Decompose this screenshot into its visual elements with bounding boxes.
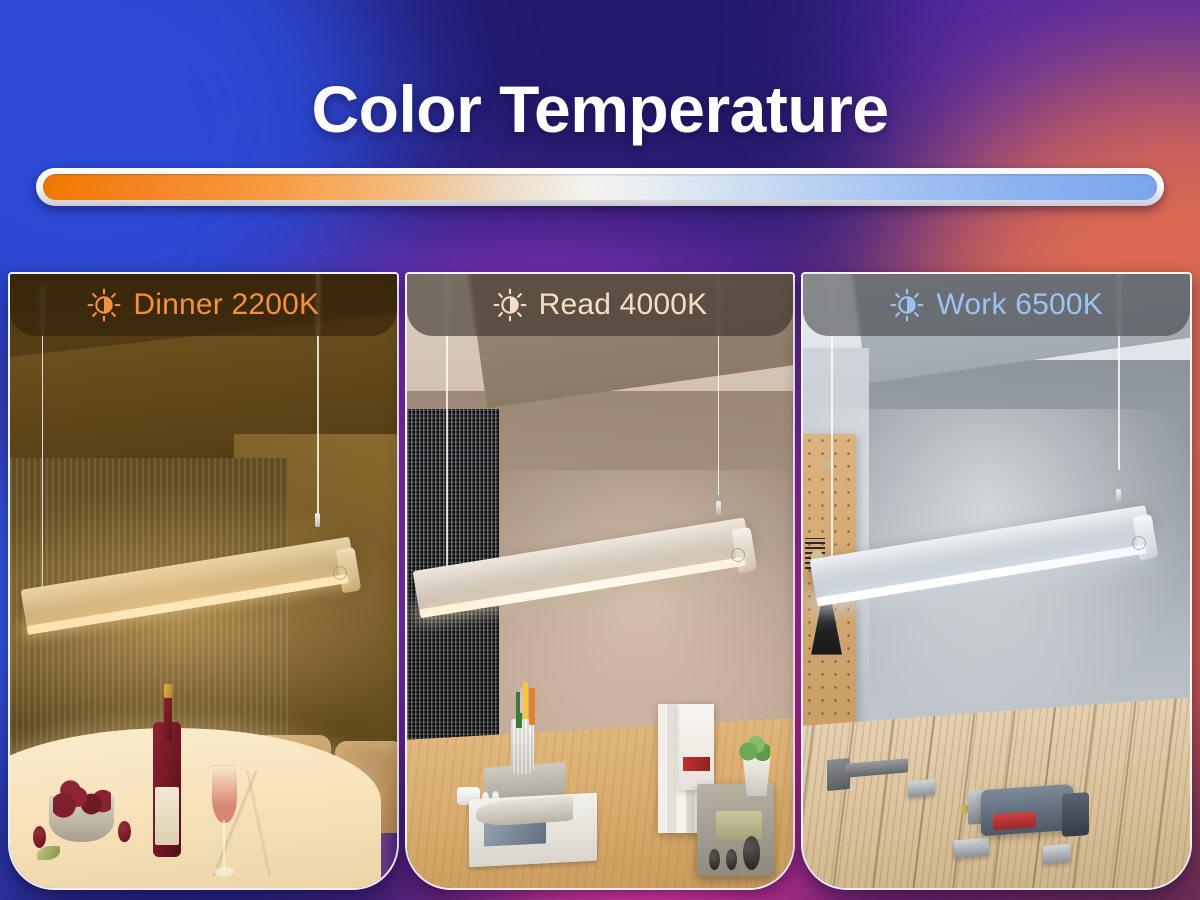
- brightness-sun-icon: [493, 288, 527, 322]
- wine-bottle-cap: [164, 684, 173, 698]
- pen-holder: [511, 719, 534, 774]
- panel-read[interactable]: Read 4000K: [405, 272, 796, 890]
- scene-study-desk: [407, 274, 794, 888]
- drill-grip: [993, 812, 1036, 831]
- book-cover-band: [683, 757, 710, 772]
- metal-hinge-3: [1043, 844, 1070, 865]
- color-temperature-gradient: [43, 174, 1157, 200]
- radio-knob-1: [709, 849, 720, 870]
- wine-glass-base: [214, 867, 234, 876]
- wine-bottle-neck: [164, 692, 171, 741]
- scene-dining-room: [10, 274, 397, 888]
- panel-label-text-read: Read 4000K: [539, 290, 708, 320]
- warm-light-glow: [10, 483, 397, 765]
- cherry-loose-right: [118, 821, 130, 842]
- wine-glass-bowl: [211, 765, 238, 823]
- brightness-sun-icon: [87, 288, 121, 322]
- wine-bottle-label: [155, 787, 180, 845]
- page-title: Color Temperature: [0, 0, 1200, 142]
- cool-light-glow: [803, 409, 1190, 728]
- succulent-plant: [739, 731, 770, 765]
- cherries: [53, 778, 111, 821]
- pen-orange: [529, 688, 534, 725]
- panel-label-read: Read 4000K: [407, 274, 794, 336]
- book-front-cover: [679, 704, 714, 790]
- panel-work[interactable]: Work 6500K: [801, 272, 1192, 890]
- pen-yellow: [523, 682, 528, 719]
- panel-label-text-work: Work 6500K: [936, 290, 1103, 320]
- metal-hinge-1: [908, 779, 935, 797]
- marble-veining: [172, 771, 303, 875]
- scene-panels: Dinner 2200K: [8, 272, 1192, 890]
- color-temperature-bar: [36, 168, 1164, 206]
- panel-dinner[interactable]: Dinner 2200K: [8, 272, 399, 890]
- drill-battery: [1062, 792, 1089, 837]
- brightness-sun-icon: [890, 288, 924, 322]
- scene-workbench: [803, 274, 1190, 888]
- radio-display: [716, 811, 762, 839]
- peg-hook-right: [832, 556, 844, 571]
- wine-glass-stem: [223, 820, 225, 869]
- panel-label-work: Work 6500K: [803, 274, 1190, 336]
- metal-hinge-2: [954, 837, 989, 858]
- panel-label-dinner: Dinner 2200K: [10, 274, 397, 336]
- panel-label-text-dinner: Dinner 2200K: [133, 290, 319, 320]
- header: Color Temperature: [0, 0, 1200, 142]
